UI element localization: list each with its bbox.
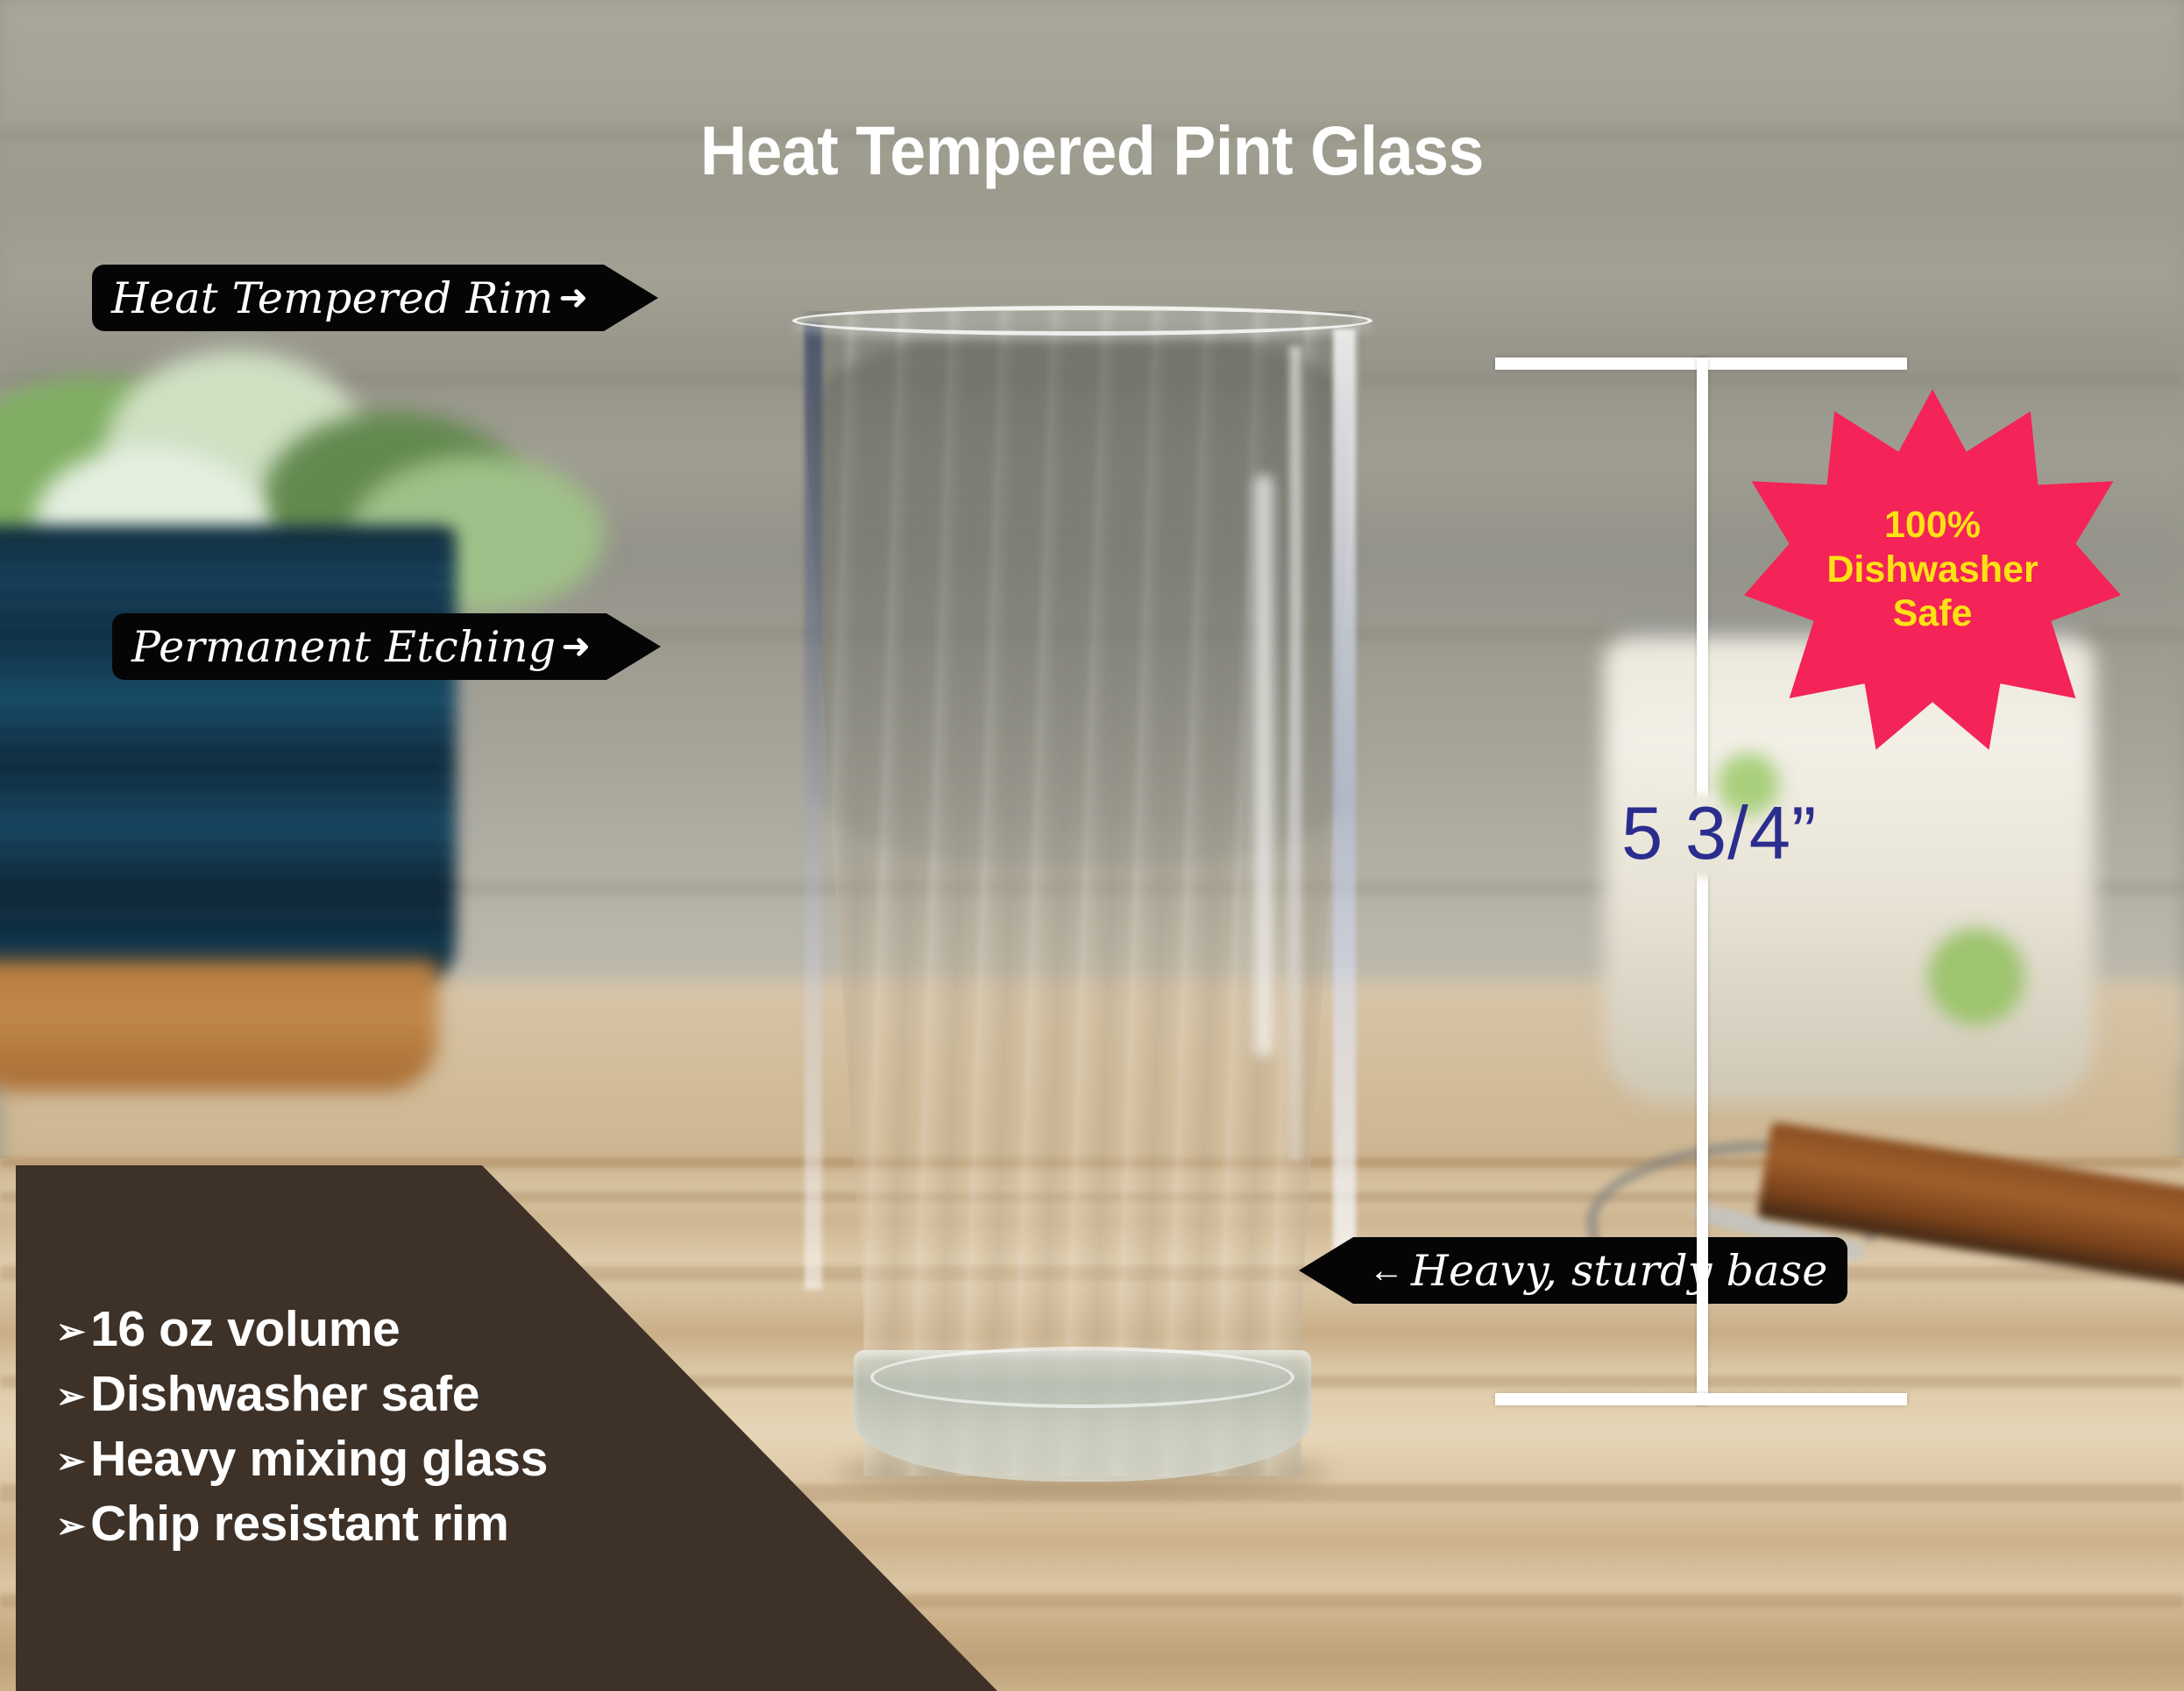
badge-text: 100% Dishwasher Safe	[1744, 386, 2121, 754]
callout-bar: ← Heavy, sturdy base	[1353, 1237, 1847, 1304]
dimension-label: 5 3/4”	[1613, 791, 1826, 877]
callout-label: Permanent Etching	[131, 626, 556, 669]
callout-arrow-tip	[1299, 1237, 1353, 1304]
bullet-arrow-icon: ➢	[56, 1379, 85, 1414]
badge-line-2: Dishwasher	[1826, 548, 2038, 592]
page-title: Heat Tempered Pint Glass	[76, 110, 2108, 191]
arrow-right-icon: ➜	[558, 280, 588, 315]
callout-arrow-tip	[604, 265, 658, 331]
callout-heat-tempered-rim[interactable]: Heat Tempered Rim ➜	[92, 265, 658, 331]
arrow-right-icon: ➜	[561, 629, 591, 664]
callout-bar: Permanent Etching ➜	[112, 613, 606, 680]
callout-heavy-sturdy-base[interactable]: ← Heavy, sturdy base	[1299, 1237, 1847, 1304]
glass-specular-highlight	[1254, 474, 1273, 1057]
feature-panel: ➢ 16 oz volume ➢ Dishwasher safe ➢ Heavy…	[16, 1165, 1006, 1691]
feature-list: ➢ 16 oz volume ➢ Dishwasher safe ➢ Heavy…	[56, 1297, 548, 1556]
list-item: ➢ Dishwasher safe	[56, 1362, 548, 1426]
list-item-label: Heavy mixing glass	[90, 1426, 548, 1491]
glass-highlight-right-2	[1289, 346, 1301, 1162]
glass-highlight-right	[1333, 329, 1356, 1284]
jar-decor	[1928, 929, 2024, 1025]
callout-label: Heavy, sturdy base	[1411, 1249, 1828, 1292]
bullet-arrow-icon: ➢	[56, 1314, 85, 1349]
list-item-label: Chip resistant rim	[90, 1491, 508, 1556]
plant-pot-ribs	[0, 526, 456, 929]
list-item: ➢ Heavy mixing glass	[56, 1426, 548, 1491]
arrow-left-icon: ←	[1369, 1253, 1404, 1288]
dishwasher-safe-badge: 100% Dishwasher Safe	[1744, 386, 2121, 754]
callout-label: Heat Tempered Rim	[111, 277, 553, 320]
dimension-line	[1697, 357, 1708, 1405]
list-item-label: 16 oz volume	[90, 1297, 400, 1362]
badge-line-1: 100%	[1884, 503, 1981, 548]
infographic-canvas: Heat Tempered Pint Glass Heat Tempered R…	[0, 0, 2184, 1691]
bullet-arrow-icon: ➢	[56, 1509, 85, 1544]
list-item: ➢ 16 oz volume	[56, 1297, 548, 1362]
glass-highlight-left	[805, 322, 822, 1290]
callout-bar: Heat Tempered Rim ➜	[92, 265, 604, 331]
callout-arrow-tip	[606, 613, 661, 680]
badge-line-3: Safe	[1893, 591, 1973, 636]
callout-permanent-etching[interactable]: Permanent Etching ➜	[112, 613, 661, 680]
list-item: ➢ Chip resistant rim	[56, 1491, 548, 1556]
dimension-cap-bottom	[1495, 1393, 1907, 1405]
list-item-label: Dishwasher safe	[90, 1362, 479, 1426]
bullet-arrow-icon: ➢	[56, 1444, 85, 1479]
glass-rim	[792, 306, 1372, 336]
plant-pot-base	[0, 959, 438, 1091]
